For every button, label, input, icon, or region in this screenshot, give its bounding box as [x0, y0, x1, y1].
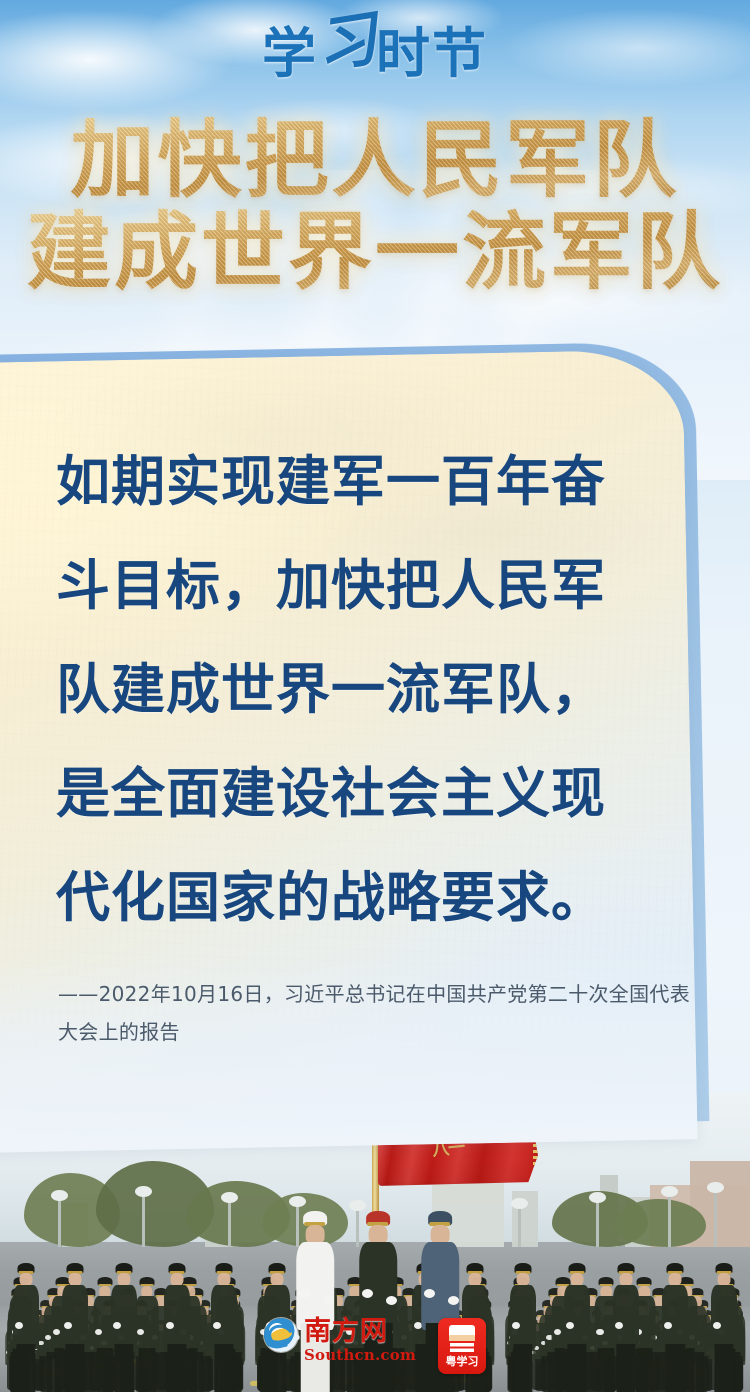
- southcn-name-cn: 南方网: [304, 1318, 416, 1345]
- brand-char-xue: 学: [262, 26, 318, 80]
- yuexuexi-bars-icon: [450, 1343, 474, 1352]
- quote-line-2: 斗目标，加快把人民军: [56, 534, 696, 638]
- headline-line-1: 加快把人民军队: [0, 112, 750, 208]
- headline: 加快把人民军队 建成世界一流军队: [0, 112, 750, 300]
- leader-glove: [323, 1296, 334, 1305]
- quote-line-4: 是全面建设社会主义现: [56, 742, 696, 846]
- brand-logo[interactable]: 学习时节: [0, 22, 750, 82]
- southcn-name-en: Southcn.com: [304, 1348, 416, 1363]
- southcn-logo[interactable]: 南方网 Southcn.com: [264, 1318, 416, 1363]
- leader-cap: [303, 1211, 327, 1226]
- footer-logos: 南方网 Southcn.com 粤学习: [0, 1318, 750, 1374]
- leader-glove: [386, 1296, 397, 1305]
- brand-char-xi-script: 习: [312, 9, 381, 78]
- poster-canvas: 学习时节 加快把人民军队 建成世界一流军队 如期实现建军一百年奋 斗目标，加快把…: [0, 0, 750, 1392]
- leader-glove: [362, 1289, 373, 1298]
- book-icon: [449, 1325, 475, 1341]
- yuexuexi-label: 粤学习: [438, 1353, 486, 1369]
- leader-glove: [448, 1296, 459, 1305]
- leader-cap: [428, 1211, 452, 1226]
- quote-attribution: ——2022年10月16日，习近平总书记在中国共产党第二十次全国代表大会上的报告: [58, 975, 708, 1051]
- quote-line-5: 代化国家的战略要求。: [56, 846, 696, 950]
- headline-line-2: 建成世界一流军队: [0, 204, 750, 300]
- leader-cap: [366, 1211, 390, 1226]
- quote-line-3: 队建成世界一流军队，: [56, 638, 696, 742]
- leader-torso: [421, 1242, 459, 1330]
- quote-line-1: 如期实现建军一百年奋: [56, 430, 696, 534]
- quote-block: 如期实现建军一百年奋 斗目标，加快把人民军 队建成世界一流军队， 是全面建设社会…: [56, 430, 696, 950]
- yuexuexi-logo[interactable]: 粤学习: [438, 1318, 486, 1374]
- brand-chars-shijie: 时节: [376, 26, 488, 80]
- leader-glove: [424, 1289, 435, 1298]
- leader-glove: [299, 1289, 310, 1298]
- southcn-swoosh-icon: [264, 1318, 298, 1352]
